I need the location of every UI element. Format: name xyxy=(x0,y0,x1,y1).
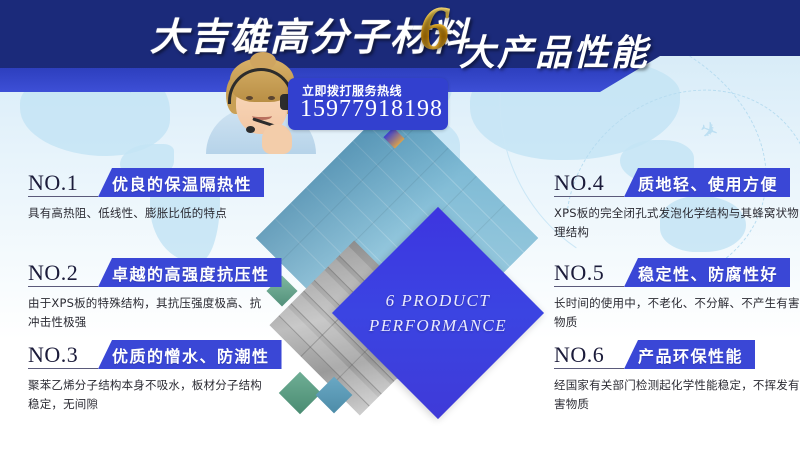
feature-4-description: XPS板的完全闭孔式发泡化学结构与其蜂窝状物理结构 xyxy=(554,204,800,242)
feature-6-number: NO.6 xyxy=(554,342,604,368)
feature-4-underline xyxy=(554,196,624,197)
feature-item-3: NO.3 优质的憎水、防潮性 聚苯乙烯分子结构本身不吸水，板材分子结构稳定，无间… xyxy=(20,340,270,370)
feature-3-title: 优质的憎水、防潮性 xyxy=(98,340,282,369)
accent-diamond-green xyxy=(279,372,321,414)
feature-2-title: 卓越的高强度抗压性 xyxy=(98,258,282,287)
feature-1-title: 优良的保温隔热性 xyxy=(98,168,264,197)
feature-1-head: NO.1 优良的保温隔热性 xyxy=(20,168,270,198)
feature-3-underline xyxy=(28,368,98,369)
feature-6-head: NO.6 产品环保性能 xyxy=(546,340,796,370)
badge-line-2: PERFORMANCE xyxy=(369,313,507,339)
feature-6-title: 产品环保性能 xyxy=(624,340,755,369)
feature-3-description: 聚苯乙烯分子结构本身不吸水，板材分子结构稳定，无间隙 xyxy=(28,376,268,414)
hotline-number[interactable]: 15977918198 xyxy=(300,97,443,121)
headline-number-six: 6 xyxy=(419,0,450,60)
center-diamond-composition: 6 PRODUCT PERFORMANCE xyxy=(275,120,545,420)
feature-2-number: NO.2 xyxy=(28,260,78,286)
hotline-box[interactable]: 立即拨打服务热线 15977918198 xyxy=(288,78,448,130)
feature-1-underline xyxy=(28,196,98,197)
badge-line-1: 6 PRODUCT xyxy=(386,288,491,314)
feature-6-underline xyxy=(554,368,624,369)
feature-1-description: 具有高热阻、低线性、膨胀比低的特点 xyxy=(28,204,268,223)
feature-2-underline xyxy=(28,286,98,287)
promo-banner: ✈ ✈ xyxy=(0,0,800,474)
performance-badge-text: 6 PRODUCT PERFORMANCE xyxy=(363,238,513,388)
feature-4-number: NO.4 xyxy=(554,170,604,196)
feature-6-description: 经国家有关部门检测起化学性能稳定，不挥发有害物质 xyxy=(554,376,800,414)
feature-5-number: NO.5 xyxy=(554,260,604,286)
feature-5-underline xyxy=(554,286,624,287)
performance-badge-diamond: 6 PRODUCT PERFORMANCE xyxy=(332,207,544,419)
feature-item-4: NO.4 质地轻、使用方便 XPS板的完全闭孔式发泡化学结构与其蜂窝状物理结构 xyxy=(546,168,796,198)
feature-5-title: 稳定性、防腐性好 xyxy=(624,258,790,287)
feature-3-head: NO.3 优质的憎水、防潮性 xyxy=(20,340,270,370)
feature-1-number: NO.1 xyxy=(28,170,78,196)
feature-4-title: 质地轻、使用方便 xyxy=(624,168,790,197)
feature-3-number: NO.3 xyxy=(28,342,78,368)
feature-5-head: NO.5 稳定性、防腐性好 xyxy=(546,258,796,288)
feature-2-description: 由于XPS板的特殊结构，其抗压强度极高、抗冲击性极强 xyxy=(28,294,268,332)
feature-2-head: NO.2 卓越的高强度抗压性 xyxy=(20,258,270,288)
feature-4-head: NO.4 质地轻、使用方便 xyxy=(546,168,796,198)
headline-suffix: 大产品性能 xyxy=(459,24,649,76)
feature-5-description: 长时间的使用中，不老化、不分解、不产生有害物质 xyxy=(554,294,800,332)
feature-item-1: NO.1 优良的保温隔热性 具有高热阻、低线性、膨胀比低的特点 xyxy=(20,168,270,198)
feature-item-2: NO.2 卓越的高强度抗压性 由于XPS板的特殊结构，其抗压强度极高、抗冲击性极… xyxy=(20,258,270,288)
feature-item-6: NO.6 产品环保性能 经国家有关部门检测起化学性能稳定，不挥发有害物质 xyxy=(546,340,796,370)
feature-item-5: NO.5 稳定性、防腐性好 长时间的使用中，不老化、不分解、不产生有害物质 xyxy=(546,258,796,288)
